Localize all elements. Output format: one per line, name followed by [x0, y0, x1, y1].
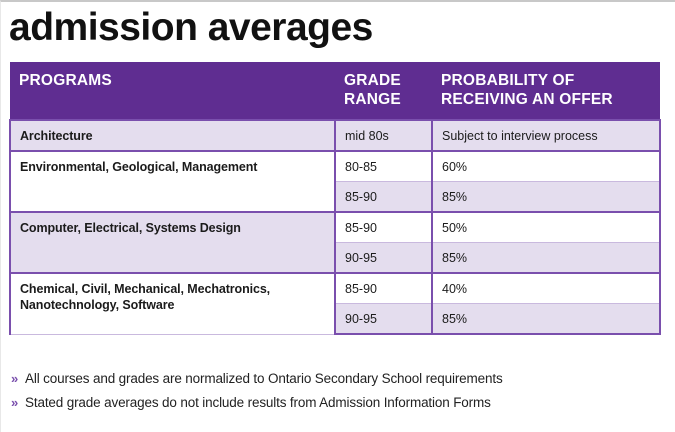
- column-header-probability: PROBABILITY OF RECEIVING AN OFFER: [432, 62, 660, 120]
- program-name-line: Architecture: [20, 128, 326, 144]
- double-chevron-icon: »: [11, 394, 25, 411]
- probability-cell: 40%: [432, 273, 660, 304]
- program-name-line: Environmental, Geological, Management: [20, 159, 326, 175]
- page-title: admission averages: [9, 4, 373, 52]
- program-name-line: Nanotechnology, Software: [20, 297, 326, 313]
- table-row: Computer, Electrical, Systems Design85-9…: [10, 212, 660, 243]
- probability-cell: 85%: [432, 304, 660, 335]
- column-header-programs-label: PROGRAMS: [19, 71, 327, 90]
- probability-cell: 85%: [432, 243, 660, 274]
- program-name-cell: Chemical, Civil, Mechanical, Mechatronic…: [10, 273, 335, 334]
- table-header: PROGRAMS GRADE RANGE PROBABILITY OF RECE…: [10, 62, 660, 120]
- column-header-probability-line1: PROBABILITY OF: [441, 71, 652, 90]
- table-body: Architecturemid 80sSubject to interview …: [10, 120, 660, 334]
- table-header-row: PROGRAMS GRADE RANGE PROBABILITY OF RECE…: [10, 62, 660, 120]
- program-name-cell: Architecture: [10, 120, 335, 151]
- column-header-grade-range: GRADE RANGE: [335, 62, 432, 120]
- admission-averages-table: PROGRAMS GRADE RANGE PROBABILITY OF RECE…: [9, 62, 661, 335]
- table-row: Environmental, Geological, Management80-…: [10, 151, 660, 182]
- table-row: Chemical, Civil, Mechanical, Mechatronic…: [10, 273, 660, 304]
- program-name-cell: Computer, Electrical, Systems Design: [10, 212, 335, 273]
- footnote-text: All courses and grades are normalized to…: [25, 370, 503, 387]
- probability-cell: 50%: [432, 212, 660, 243]
- double-chevron-icon: »: [11, 370, 25, 387]
- table-row: Architecturemid 80sSubject to interview …: [10, 120, 660, 151]
- program-name-cell: Environmental, Geological, Management: [10, 151, 335, 212]
- footnotes: »All courses and grades are normalized t…: [11, 370, 661, 418]
- probability-cell: 85%: [432, 182, 660, 213]
- grade-range-cell: 90-95: [335, 243, 432, 274]
- grade-range-cell: 85-90: [335, 182, 432, 213]
- footnote-item: »Stated grade averages do not include re…: [11, 394, 661, 411]
- program-name-line: Chemical, Civil, Mechanical, Mechatronic…: [20, 281, 326, 297]
- grade-range-cell: 85-90: [335, 212, 432, 243]
- program-name-line: Computer, Electrical, Systems Design: [20, 220, 326, 236]
- column-header-grade-range-line2: RANGE: [344, 90, 424, 109]
- grade-range-cell: 90-95: [335, 304, 432, 335]
- admission-averages-table-wrap: PROGRAMS GRADE RANGE PROBABILITY OF RECE…: [9, 62, 659, 335]
- column-header-probability-line2: RECEIVING AN OFFER: [441, 90, 652, 109]
- footnote-item: »All courses and grades are normalized t…: [11, 370, 661, 387]
- column-header-grade-range-line1: GRADE: [344, 71, 424, 90]
- footnote-text: Stated grade averages do not include res…: [25, 394, 491, 411]
- grade-range-cell: mid 80s: [335, 120, 432, 151]
- probability-cell: 60%: [432, 151, 660, 182]
- column-header-programs: PROGRAMS: [10, 62, 335, 120]
- grade-range-cell: 85-90: [335, 273, 432, 304]
- page-root: admission averages PROGRAMS GRADE RANGE …: [0, 0, 675, 432]
- probability-cell: Subject to interview process: [432, 120, 660, 151]
- grade-range-cell: 80-85: [335, 151, 432, 182]
